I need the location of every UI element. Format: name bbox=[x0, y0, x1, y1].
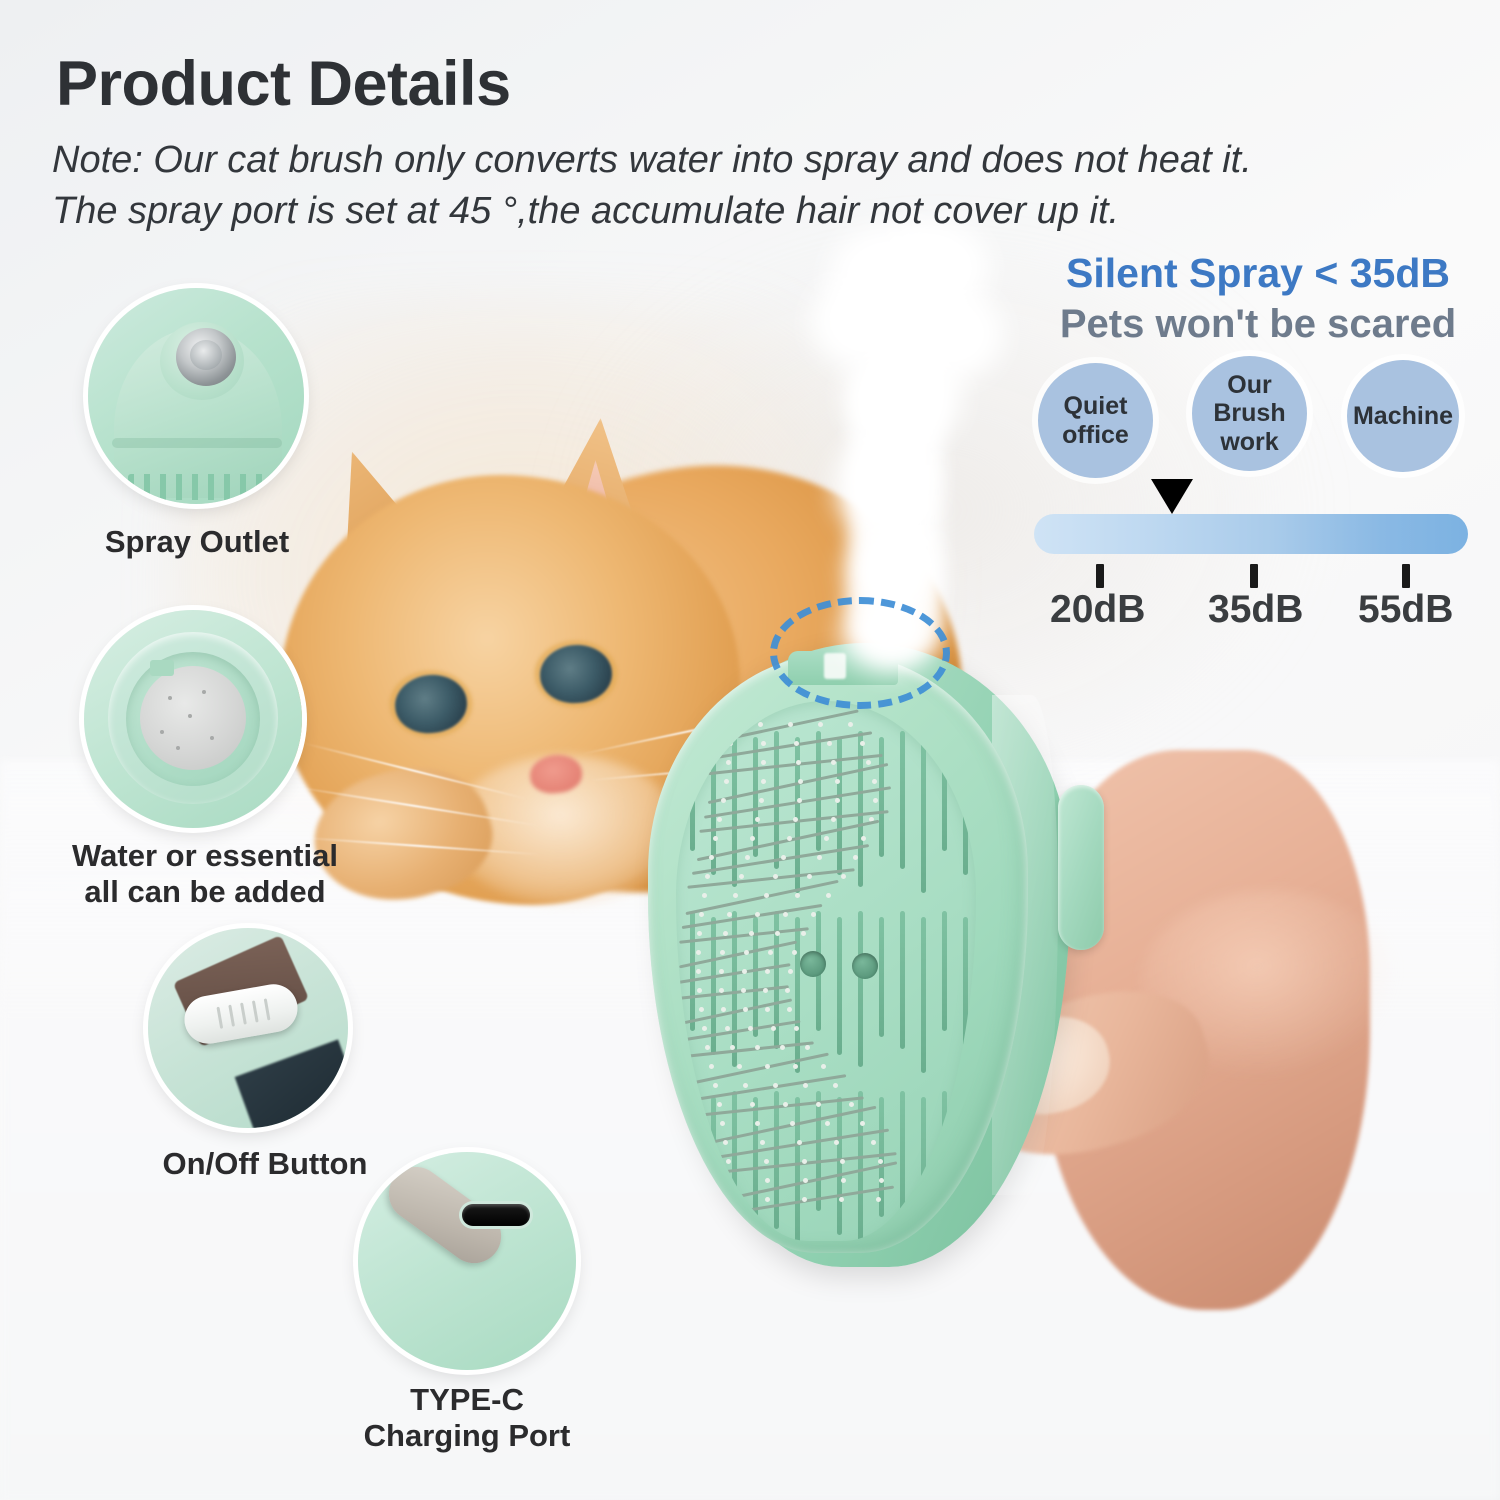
steam-spray bbox=[800, 220, 1030, 660]
brush-face bbox=[648, 653, 1028, 1253]
tank-sponge bbox=[140, 666, 246, 770]
callout-spray-outlet-image bbox=[88, 288, 304, 504]
bristle-plate bbox=[676, 701, 976, 1241]
bubble-our-brush-work: Our Brush work bbox=[1192, 356, 1307, 471]
switch-ridge bbox=[228, 1005, 235, 1027]
scale-label-20db: 20dB bbox=[1050, 588, 1145, 632]
dome-groove bbox=[112, 438, 282, 448]
noise-level-panel: Silent Spray < 35dB Pets won't be scared… bbox=[1020, 250, 1480, 630]
scale-label-35db: 35dB bbox=[1208, 588, 1303, 632]
switch-ridge bbox=[216, 1007, 223, 1029]
callout-label-type-c: TYPE-C Charging Port bbox=[322, 1382, 612, 1455]
bubble-quiet-office: Quiet office bbox=[1038, 363, 1153, 478]
bristle-field bbox=[676, 701, 976, 1241]
switch-ridge bbox=[240, 1002, 247, 1024]
type-c-port bbox=[462, 1204, 530, 1226]
vent-hole bbox=[800, 951, 826, 977]
sponge-pore bbox=[168, 696, 172, 700]
metal-outlet-bore bbox=[190, 340, 222, 370]
note-line-1: Note: Our cat brush only converts water … bbox=[52, 135, 1452, 186]
panel-title: Silent Spray < 35dB bbox=[1036, 250, 1480, 297]
sponge-pore bbox=[160, 730, 164, 734]
tank-sponge-notch bbox=[150, 660, 174, 676]
spray-port-highlight-ring bbox=[770, 597, 950, 709]
callout-water-tank-image bbox=[84, 610, 302, 828]
callout-label-spray-outlet: Spray Outlet bbox=[42, 524, 352, 560]
panel-subtitle: Pets won't be scared bbox=[1036, 302, 1480, 347]
callout-label-on-off: On/Off Button bbox=[110, 1146, 420, 1182]
callout-on-off-image bbox=[148, 928, 348, 1128]
callout-type-c-image bbox=[358, 1152, 576, 1370]
note-line-2: The spray port is set at 45 °,the accumu… bbox=[52, 186, 1452, 237]
vent-hole bbox=[852, 953, 878, 979]
sponge-pore bbox=[210, 736, 214, 740]
sponge-pore bbox=[176, 746, 180, 750]
product-note: Note: Our cat brush only converts water … bbox=[52, 135, 1452, 236]
comb-teeth bbox=[128, 474, 268, 500]
bubble-machine: Machine bbox=[1347, 360, 1459, 472]
callout-label-water-tank: Water or essential all can be added bbox=[30, 838, 380, 911]
switch-ridge bbox=[252, 1000, 259, 1022]
background-shadow bbox=[235, 1039, 348, 1128]
scale-marker-arrow bbox=[1151, 479, 1193, 514]
scale-tick bbox=[1096, 564, 1104, 588]
scale-tick bbox=[1250, 564, 1258, 588]
scale-label-55db: 55dB bbox=[1358, 588, 1453, 632]
scale-tick bbox=[1402, 564, 1410, 588]
sponge-pore bbox=[188, 714, 192, 718]
side-release-tab[interactable] bbox=[1058, 785, 1104, 950]
page-title: Product Details bbox=[56, 48, 511, 120]
switch-ridge bbox=[264, 998, 271, 1020]
db-scale-bar bbox=[1034, 514, 1468, 554]
sponge-pore bbox=[202, 690, 206, 694]
pet-steamy-brush bbox=[640, 635, 1080, 1275]
